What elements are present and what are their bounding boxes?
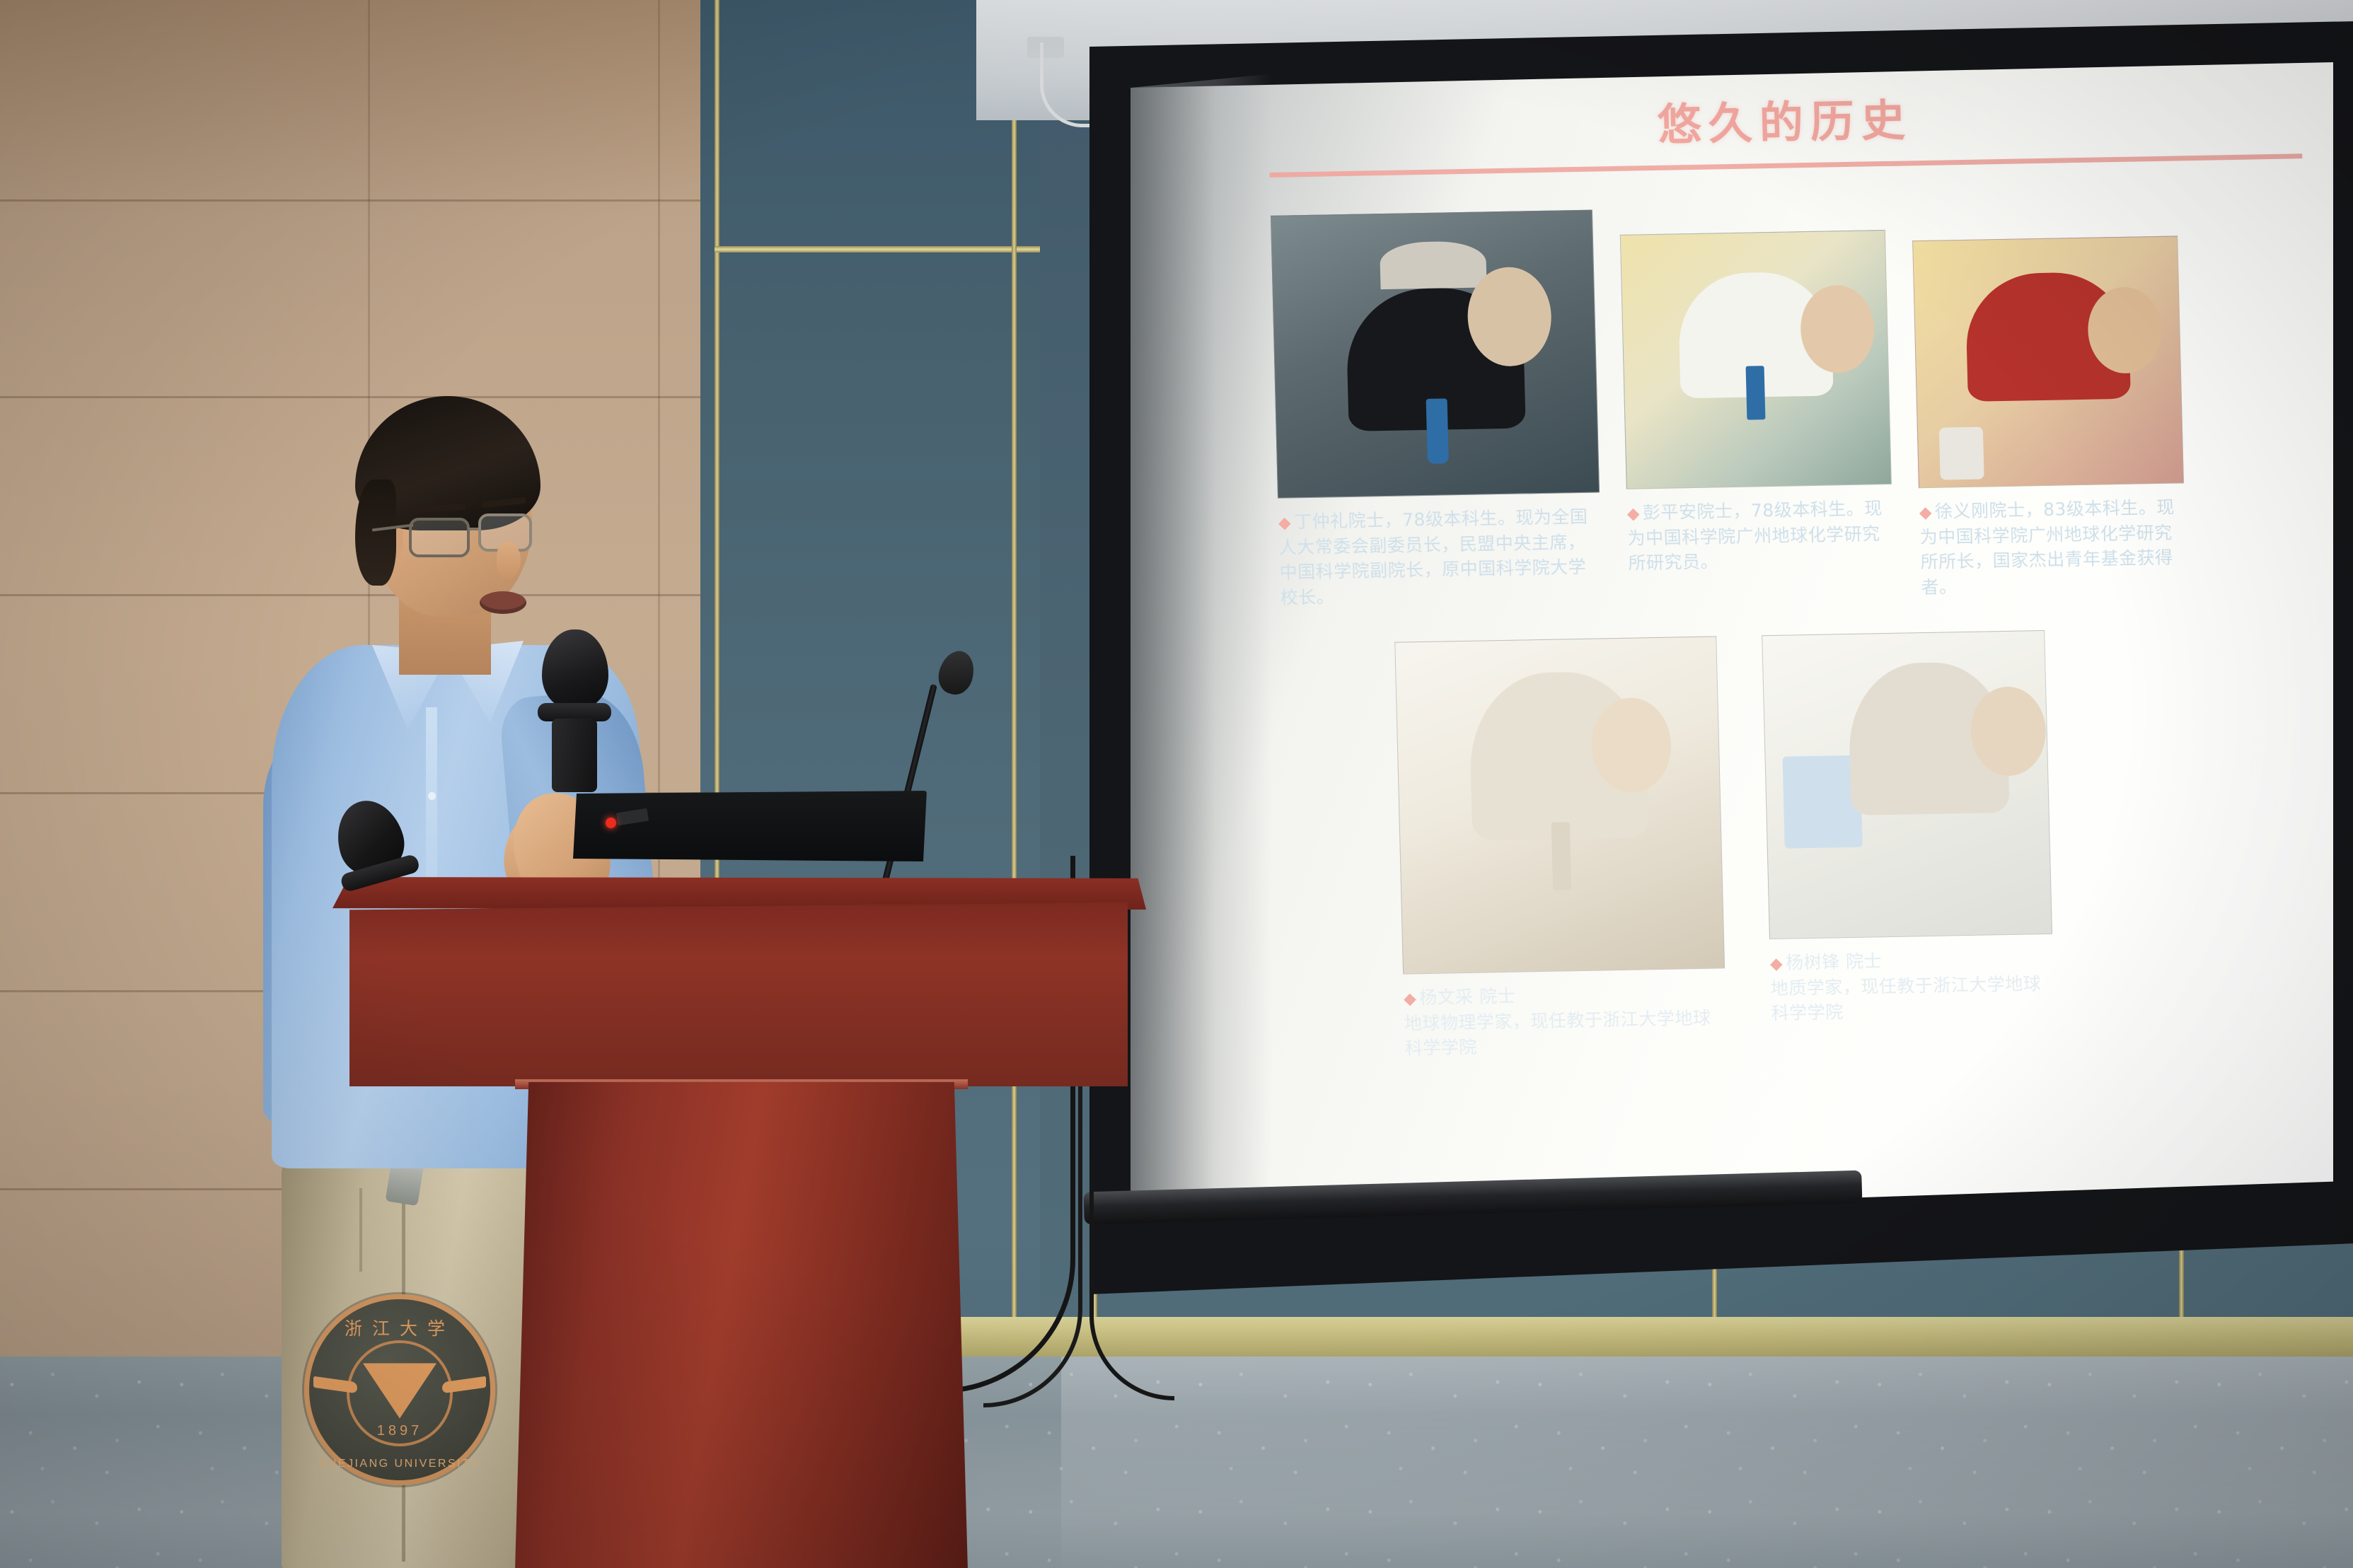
- projector-screen[interactable]: 悠久的历史 ◆丁仲礼院士，78级本科生。现为全国人大常委会副委员长，民盟中央主席…: [1089, 21, 2353, 1294]
- thinkpad-logo-icon: [616, 808, 649, 826]
- portrait-photo-3: [1912, 236, 2184, 488]
- slide-top-row: ◆丁仲礼院士，78级本科生。现为全国人大常委会副委员长，民盟中央主席，中国科学院…: [1271, 197, 2313, 612]
- glasses-lens-left: [409, 518, 470, 557]
- handheld-mic[interactable]: [538, 629, 611, 792]
- caption-3: ◆徐义刚院士，83级本科生。现为中国科学院广州地球化学研究所所长，国家杰出青年基…: [1919, 494, 2187, 600]
- portrait-photo-2: [1620, 230, 1892, 489]
- caption-1-text: 丁仲礼院士，78级本科生。现为全国人大常委会副委员长，民盟中央主席，中国科学院副…: [1278, 506, 1588, 608]
- bullet-diamond-icon: ◆: [1919, 504, 1933, 522]
- person-card-yang-shufeng: ◆杨树锋 院士 地质学家，现任教于浙江大学地球科学学院: [1762, 630, 2055, 1055]
- bullet-diamond-icon: ◆: [1770, 955, 1783, 973]
- portrait-photo-5: [1762, 630, 2052, 939]
- caption-4-line2: 地球物理学家，现任教于浙江大学地球科学学院: [1404, 1007, 1711, 1058]
- portrait-photo-1: [1271, 210, 1600, 499]
- podium-front-panel: [349, 902, 1128, 1086]
- seal-founding-year: 1897: [309, 1423, 490, 1439]
- person-card-xu-yigang: ◆徐义刚院士，83级本科生。现为中国科学院广州地球化学研究所所长，国家杰出青年基…: [1912, 199, 2187, 600]
- podium-column: [515, 1082, 968, 1568]
- caption-1: ◆丁仲礼院士，78级本科生。现为全国人大常委会副委员长，民盟中央主席，中国科学院…: [1278, 504, 1602, 610]
- caption-2-text: 彭平安院士，78级本科生。现为中国科学院广州地球化学研究所研究员。: [1627, 498, 1883, 574]
- caption-3-text: 徐义刚院士，83级本科生。现为中国科学院广州地球化学研究所所长，国家杰出青年基金…: [1919, 497, 2175, 598]
- screen-unlit-edge: [1131, 62, 1272, 1222]
- bullet-diamond-icon: ◆: [1278, 513, 1292, 532]
- bullet-diamond-icon: ◆: [1626, 504, 1640, 523]
- speaker-hair-side: [355, 480, 396, 586]
- speaker-mouth: [480, 591, 526, 614]
- person-card-yang-wencai: ◆杨文采 院士 地球物理学家，现任教于浙江大学地球科学学院: [1394, 637, 1727, 1062]
- caption-4: ◆杨文采 院士 地球物理学家，现任教于浙江大学地球科学学院: [1404, 980, 1728, 1061]
- gold-trim-horizontal-a: [715, 246, 1097, 252]
- gooseneck-mic-windscreen: [934, 647, 978, 699]
- seal-english-name: ZHEJIANG UNIVERSITY: [309, 1458, 490, 1470]
- thinkpad-led-dot-icon: [606, 818, 616, 828]
- caption-5-line2: 地质学家，现任教于浙江大学地球科学学院: [1770, 973, 2041, 1023]
- slide-title-rule: [1269, 153, 2302, 178]
- person-card-ding-zhongli: ◆丁仲礼院士，78级本科生。现为全国人大常委会副委员长，民盟中央主席，中国科学院…: [1271, 210, 1602, 610]
- caption-5-line1: 杨树锋 院士: [1786, 951, 1883, 972]
- floor-reflection: [1061, 1357, 2353, 1568]
- shirt-button: [428, 792, 436, 800]
- caption-2: ◆彭平安院士，78级本科生。现为中国科学院广州地球化学研究所研究员。: [1626, 496, 1894, 576]
- zhejiang-university-seal: 浙江大学 1897 ZHEJIANG UNIVERSITY: [304, 1294, 495, 1485]
- handheld-mic-windscreen: [542, 629, 608, 709]
- person-card-peng-pingan: ◆彭平安院士，78级本科生。现为中国科学院广州地球化学研究所研究员。: [1619, 204, 1894, 576]
- seal-eagle-icon: [363, 1364, 437, 1419]
- lecture-hall-scene: 悠久的历史 ◆丁仲礼院士，78级本科生。现为全国人大常委会副委员长，民盟中央主席…: [0, 0, 2353, 1568]
- caption-4-line1: 杨文采 院士: [1419, 986, 1516, 1008]
- seal-chinese-name: 浙江大学: [309, 1315, 490, 1340]
- slide-title: 悠久的历史: [1268, 77, 2302, 160]
- slide-bottom-row: ◆杨文采 院士 地球物理学家，现任教于浙江大学地球科学学院: [1394, 625, 2325, 1061]
- handheld-mic-body: [552, 719, 597, 792]
- presentation-slide: 悠久的历史 ◆丁仲礼院士，78级本科生。现为全国人大常委会副委员长，民盟中央主席…: [1266, 30, 2328, 1166]
- speaker-nose: [497, 542, 521, 579]
- laptop-lid[interactable]: [573, 791, 927, 861]
- caption-5: ◆杨树锋 院士 地质学家，现任教于浙江大学地球科学学院: [1769, 946, 2054, 1026]
- bullet-diamond-icon: ◆: [1404, 989, 1417, 1008]
- portrait-photo-4: [1394, 637, 1725, 975]
